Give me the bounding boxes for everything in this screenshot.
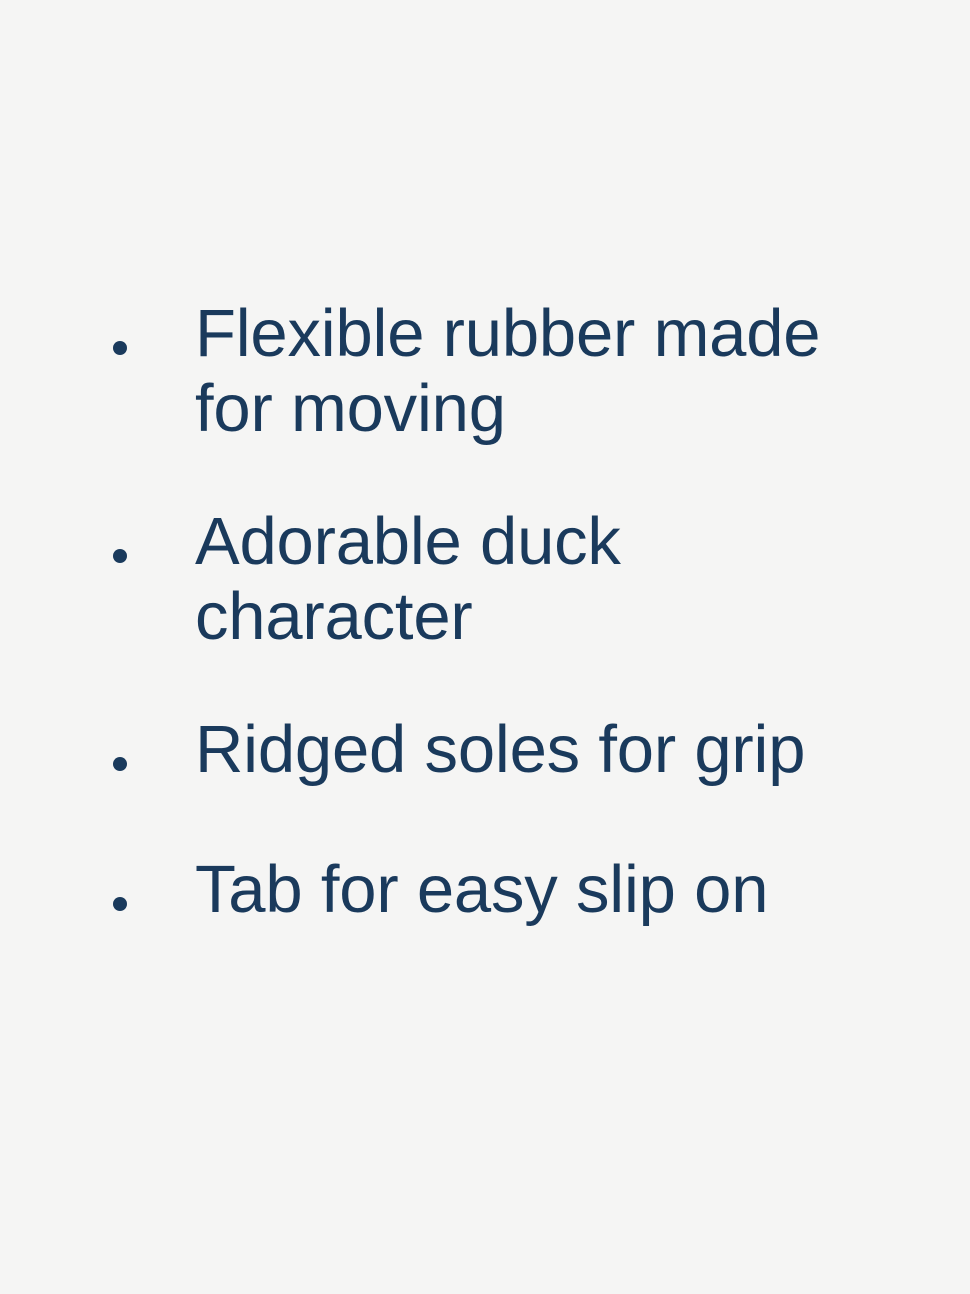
feature-text: Flexible rubber made for moving [195, 296, 910, 446]
list-item: Flexible rubber made for moving [0, 296, 970, 446]
feature-panel: Flexible rubber made for moving Adorable… [0, 0, 970, 1294]
bullet-dot-icon [113, 341, 127, 355]
feature-text: Ridged soles for grip [195, 712, 910, 787]
bullet-dot-icon [113, 549, 127, 563]
list-item: Adorable duck character [0, 504, 970, 654]
list-item: Ridged soles for grip [0, 712, 970, 794]
bullet-dot-icon [113, 897, 127, 911]
list-item: Tab for easy slip on [0, 852, 970, 934]
feature-list: Flexible rubber made for moving Adorable… [0, 296, 970, 934]
feature-text: Adorable duck character [195, 504, 910, 654]
bullet-dot-icon [113, 757, 127, 771]
feature-text: Tab for easy slip on [195, 852, 910, 927]
